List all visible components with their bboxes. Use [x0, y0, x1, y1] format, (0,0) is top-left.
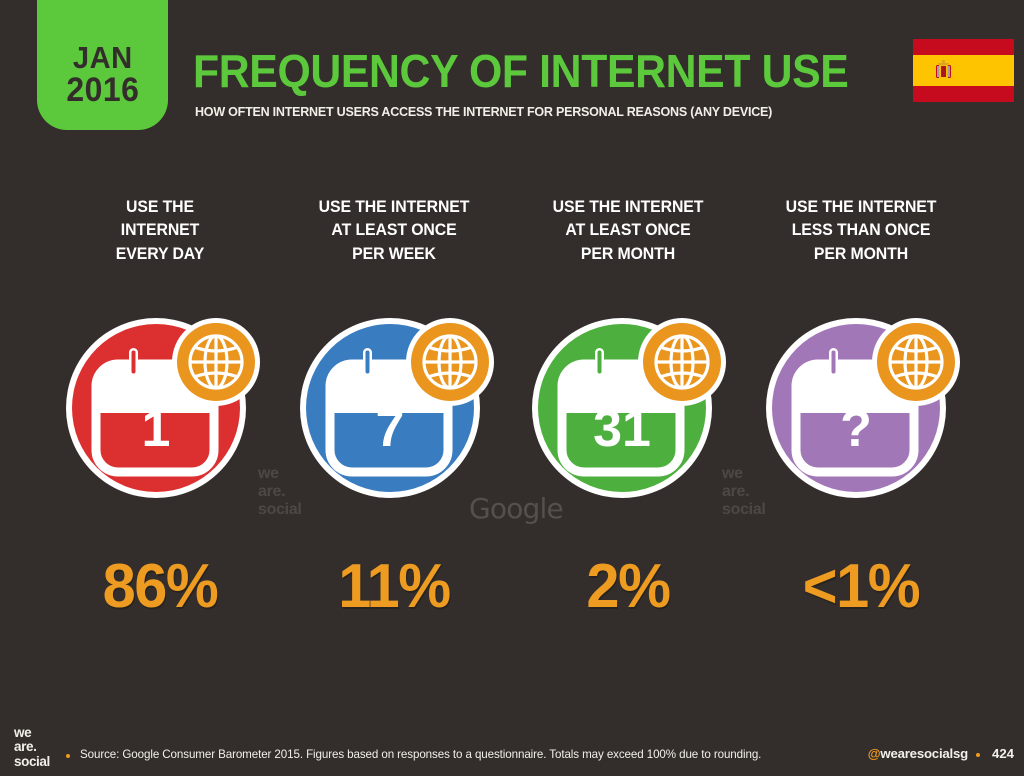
footer-logo: we are. social — [14, 726, 50, 769]
column-once-per-month: USE THE INTERNET AT LEAST ONCE PER MONTH — [510, 196, 746, 266]
flag-stripe-middle — [913, 55, 1014, 87]
calendar-globe-icon: ? — [764, 304, 960, 500]
footer-page-number: 424 — [992, 746, 1014, 761]
footer-source-text: Source: Google Consumer Barometer 2015. … — [80, 748, 761, 761]
column-heading: USE THE INTERNET LESS THAN ONCE PER MONT… — [748, 196, 975, 266]
date-badge-year: 2016 — [66, 73, 139, 108]
column-heading: USE THE INTERNET AT LEAST ONCE PER WEEK — [281, 196, 508, 266]
at-icon: @ — [868, 746, 881, 761]
footer-separator-icon — [976, 753, 980, 757]
flag-crest-icon — [935, 59, 952, 83]
spain-flag-icon — [913, 39, 1014, 102]
column-every-day: USE THE INTERNET EVERY DAY — [42, 196, 278, 266]
watermark-we-are-social: we are. social — [258, 465, 302, 519]
percent-value: 86% — [47, 551, 274, 622]
watermark-google: Google — [469, 492, 563, 525]
flag-stripe-top — [913, 39, 1014, 55]
percent-value: 11% — [281, 551, 508, 622]
globe-icon — [656, 336, 708, 388]
footer-social-handle: @wearesocialsg — [868, 746, 968, 761]
watermark-we-are-social: we are. social — [722, 465, 766, 519]
flag-stripe-bottom — [913, 86, 1014, 102]
column-heading: USE THE INTERNET AT LEAST ONCE PER MONTH — [515, 196, 742, 266]
page-title: FREQUENCY OF INTERNET USE — [193, 44, 848, 98]
date-badge: JAN 2016 — [37, 0, 168, 130]
column-once-per-week: USE THE INTERNET AT LEAST ONCE PER WEEK — [276, 196, 512, 266]
globe-icon — [890, 336, 942, 388]
calendar-number: ? — [840, 400, 872, 458]
percent-value: <1% — [748, 551, 975, 622]
percent-value: 2% — [515, 551, 742, 622]
calendar-number: 7 — [376, 400, 405, 458]
column-heading: USE THE INTERNET EVERY DAY — [47, 196, 274, 266]
footer-bullet-icon — [66, 754, 70, 758]
globe-icon — [190, 336, 242, 388]
calendar-number: 31 — [593, 400, 651, 458]
calendar-globe-icon: 7 — [298, 304, 494, 500]
page-subtitle: HOW OFTEN INTERNET USERS ACCESS THE INTE… — [195, 104, 772, 119]
footer-handle-text: wearesocialsg — [880, 746, 968, 761]
calendar-globe-icon: 31 — [530, 304, 726, 500]
calendar-number: 1 — [142, 400, 171, 458]
calendar-globe-icon: 1 — [64, 304, 260, 500]
date-badge-month: JAN — [73, 42, 133, 74]
column-less-than-once-per-month: USE THE INTERNET LESS THAN ONCE PER MONT… — [743, 196, 979, 266]
globe-icon — [424, 336, 476, 388]
